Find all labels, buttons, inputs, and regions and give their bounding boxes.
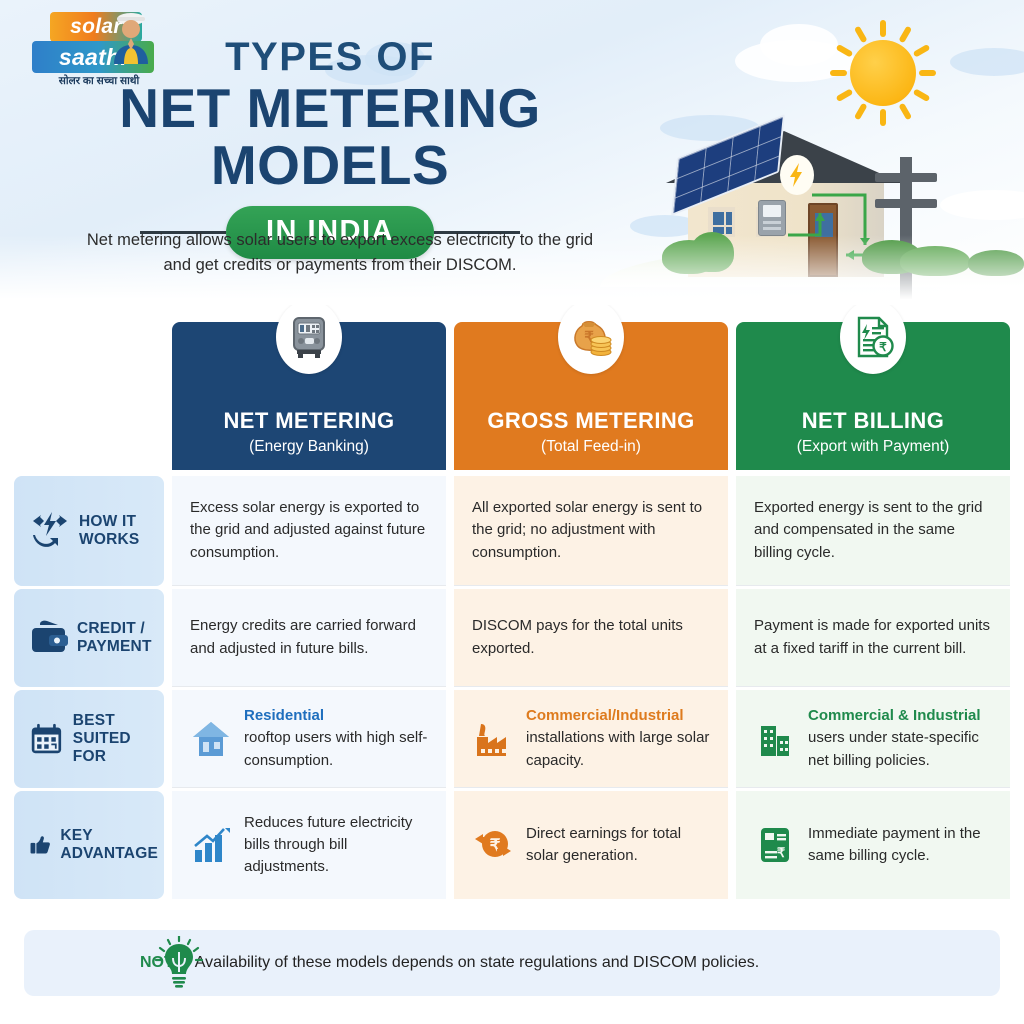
table-row: HOW ITWORKS Excess solar energy is expor… <box>14 476 1010 586</box>
bar-chart-growth-icon <box>190 824 232 866</box>
note-banner: NOTE: Availability of these models depen… <box>24 930 1000 996</box>
row-label-text: BESTSUITED FOR <box>73 712 158 765</box>
row-label-text: CREDIT /PAYMENT <box>77 620 152 656</box>
svg-text:₹: ₹ <box>777 845 786 860</box>
row-label-key-advantage: KEYADVANTAGE <box>14 791 164 899</box>
rupee-exchange-icon: ₹ <box>472 824 514 866</box>
invoice-rupee-icon: ₹ <box>840 300 906 374</box>
cell-net-metering: Reduces future electricity bills through… <box>172 791 446 899</box>
cell-net-metering: Excess solar energy is exported to the g… <box>172 476 446 586</box>
column-subtitle: (Energy Banking) <box>249 438 369 456</box>
column-header-net-metering[interactable]: NET METERING (Energy Banking) <box>172 322 446 470</box>
svg-text:₹: ₹ <box>879 340 887 354</box>
row-cells: Energy credits are carried forward and a… <box>172 589 1010 687</box>
table-row: BESTSUITED FOR Residentialrooftop users … <box>14 690 1010 788</box>
column-header-net-billing[interactable]: ₹ NET BILLING (Export with Payment) <box>736 322 1010 470</box>
house-icon <box>190 718 232 760</box>
cell-net-billing: ₹ Immediate payment in the same billing … <box>736 791 1010 899</box>
column-subtitle: (Total Feed-in) <box>541 438 641 456</box>
table-row: CREDIT /PAYMENT Energy credits are carri… <box>14 589 1010 687</box>
column-title: GROSS METERING <box>487 408 694 434</box>
row-label-credit-payment: CREDIT /PAYMENT <box>14 589 164 687</box>
electricity-meter-icon <box>276 300 342 374</box>
table-header-row: NET METERING (Energy Banking) ₹ GROSS ME… <box>172 322 1010 470</box>
wallet-icon <box>30 620 68 656</box>
cell-gross-metering: ₹ Direct earnings for total solar genera… <box>454 791 728 899</box>
table-row: KEYADVANTAGE Reduces future electricity … <box>14 791 1010 899</box>
title-small: TYPES OF <box>0 36 660 78</box>
row-cells: Reduces future electricity bills through… <box>172 791 1010 899</box>
cell-gross-metering: Commercial/Industrialinstallations with … <box>454 690 728 788</box>
row-label-text: KEYADVANTAGE <box>60 827 158 863</box>
cell-gross-metering: All exported solar energy is sent to the… <box>454 476 728 586</box>
subtitle-line-1: Net metering allows solar users to expor… <box>0 228 680 253</box>
column-title: NET BILLING <box>802 408 945 434</box>
cell-net-metering: Energy credits are carried forward and a… <box>172 589 446 687</box>
row-label-best-suited-for: BESTSUITED FOR <box>14 690 164 788</box>
row-label-text: HOW ITWORKS <box>79 513 139 549</box>
page-title: TYPES OF NET METERING MODELS IN INDIA <box>0 36 660 259</box>
note-text: Availability of these models depends on … <box>195 954 759 972</box>
energy-exchange-arrows-icon <box>30 512 70 550</box>
factory-icon <box>472 718 514 760</box>
cell-net-billing: Commercial & Industrialusers under state… <box>736 690 1010 788</box>
money-bag-rupee-icon: ₹ <box>558 300 624 374</box>
column-title: NET METERING <box>223 408 394 434</box>
column-subtitle: (Export with Payment) <box>797 438 949 456</box>
comparison-table: NET METERING (Energy Banking) ₹ GROSS ME… <box>14 322 1010 902</box>
cell-net-billing: Payment is made for exported units at a … <box>736 589 1010 687</box>
row-cells: Residentialrooftop users with high self-… <box>172 690 1010 788</box>
column-header-gross-metering[interactable]: ₹ GROSS METERING (Total Feed-in) <box>454 322 728 470</box>
cell-net-billing: Exported energy is sent to the grid and … <box>736 476 1010 586</box>
cell-net-metering: Residentialrooftop users with high self-… <box>172 690 446 788</box>
subtitle: Net metering allows solar users to expor… <box>0 228 680 278</box>
title-big: NET METERING MODELS <box>0 80 660 194</box>
row-label-how-it-works: HOW ITWORKS <box>14 476 164 586</box>
payment-receipt-icon: ₹ <box>754 824 796 866</box>
calendar-icon <box>30 721 64 757</box>
lightbulb-icon <box>152 936 206 992</box>
office-building-icon <box>754 718 796 760</box>
subtitle-line-2: and get credits or payments from their D… <box>0 253 680 278</box>
thumbs-up-icon <box>30 827 51 863</box>
row-cells: Excess solar energy is exported to the g… <box>172 476 1010 586</box>
cell-gross-metering: DISCOM pays for the total units exported… <box>454 589 728 687</box>
